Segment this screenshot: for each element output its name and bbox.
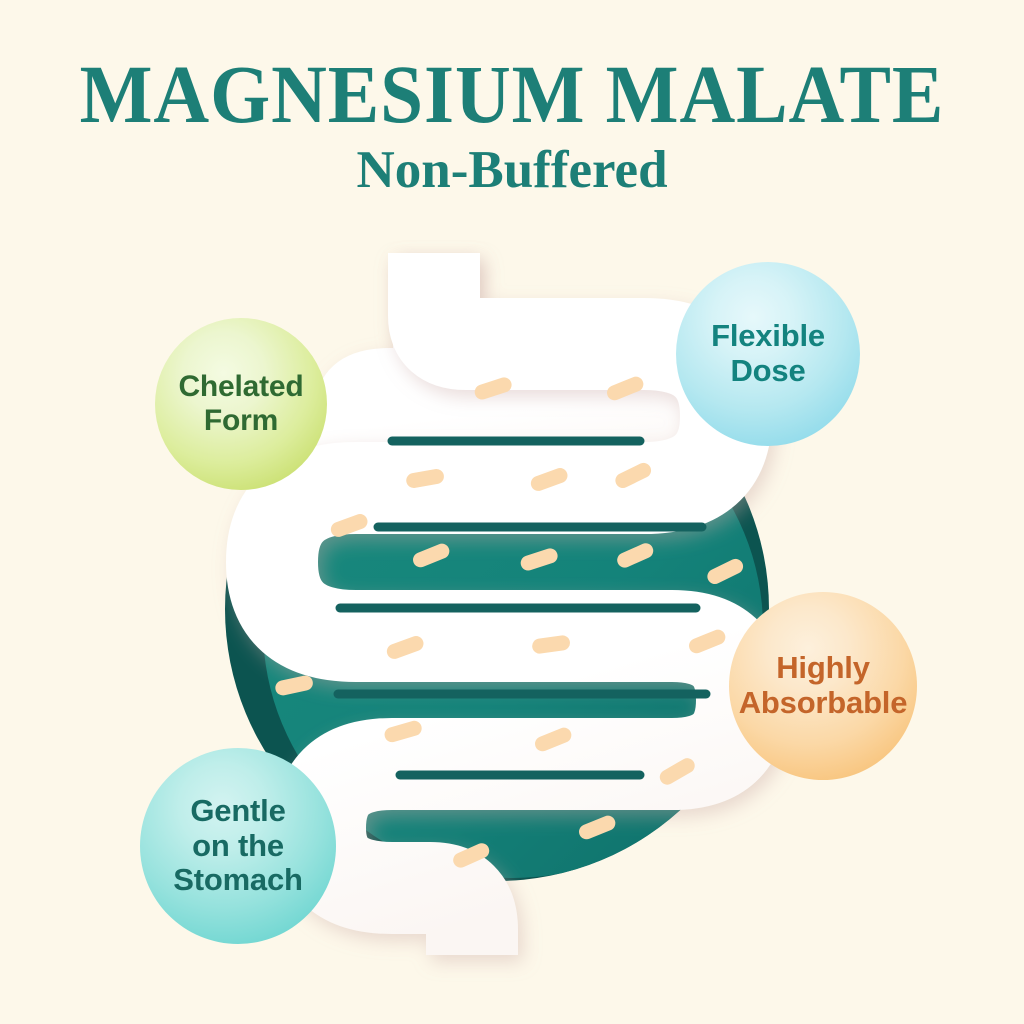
badge-gentle-on-the-stomach-label: Gentle on the Stomach (173, 794, 303, 898)
badge-highly-absorbable[interactable]: Highly Absorbable (729, 592, 917, 780)
badge-chelated-form[interactable]: Chelated Form (155, 318, 327, 490)
page-title: MAGNESIUM MALATE (36, 52, 988, 137)
page-subtitle: Non-Buffered (0, 143, 1024, 199)
badge-highly-absorbable-label: Highly Absorbable (739, 651, 908, 720)
badge-chelated-form-label: Chelated Form (178, 370, 303, 437)
badge-gentle-on-the-stomach[interactable]: Gentle on the Stomach (140, 748, 336, 944)
infographic-poster: MAGNESIUM MALATE Non-Buffered Chelated F… (0, 0, 1024, 1024)
badge-flexible-dose-label: Flexible Dose (711, 319, 825, 388)
badge-flexible-dose[interactable]: Flexible Dose (676, 262, 860, 446)
heading-block: MAGNESIUM MALATE Non-Buffered (0, 52, 1024, 198)
